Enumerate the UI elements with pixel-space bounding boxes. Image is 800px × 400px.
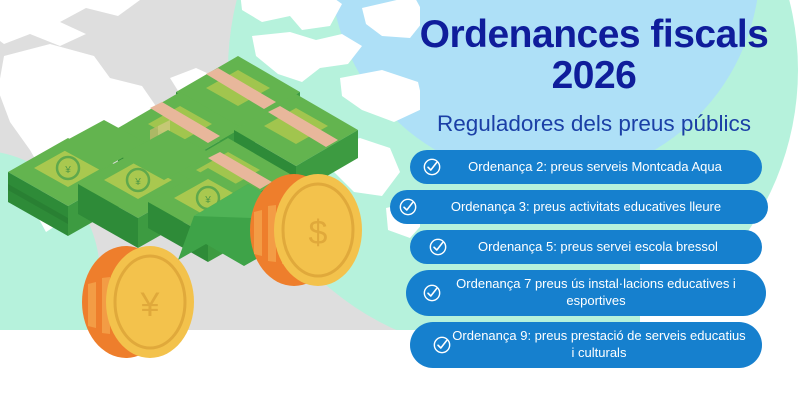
gold-coin-right: $ (250, 174, 362, 286)
list-item-ordenanca-2[interactable]: Ordenança 2: preus serveis Montcada Aqua (410, 150, 762, 184)
svg-text:¥: ¥ (140, 286, 160, 324)
page-title: Ordenances fiscals 2026 (388, 14, 800, 97)
content-column: Ordenances fiscals 2026 Reguladores dels… (388, 0, 800, 400)
check-circle-icon (398, 197, 418, 217)
list-item-ordenanca-7[interactable]: Ordenança 7 preus ús instal·lacions educ… (406, 270, 766, 316)
svg-text:¥: ¥ (204, 195, 211, 206)
svg-text:$: $ (309, 214, 328, 252)
poster-canvas: ¥ ¥ ¥ (0, 0, 800, 400)
page-title-line1: Ordenances fiscals (388, 14, 800, 55)
list-item-label: Ordenança 3: preus activitats educatives… (418, 199, 762, 216)
check-circle-icon (432, 335, 452, 355)
list-item-ordenanca-3[interactable]: Ordenança 3: preus activitats educatives… (390, 190, 768, 224)
page-title-line2: 2026 (388, 55, 800, 96)
ordinance-list: Ordenança 2: preus serveis Montcada Aqua… (388, 150, 800, 374)
svg-text:¥: ¥ (134, 177, 141, 188)
list-item-label: Ordenança 7 preus ús instal·lacions educ… (442, 276, 758, 309)
isometric-money-illustration: ¥ ¥ ¥ (0, 34, 400, 364)
check-circle-icon (422, 283, 442, 303)
list-item-ordenanca-5[interactable]: Ordenança 5: preus servei escola bressol (410, 230, 762, 264)
check-circle-icon (428, 237, 448, 257)
list-item-label: Ordenança 9: preus prestació de serveis … (452, 328, 754, 361)
svg-text:¥: ¥ (64, 165, 71, 176)
page-subtitle: Reguladores dels preus públics (388, 112, 800, 137)
gold-coin-left: ¥ (82, 246, 194, 358)
list-item-label: Ordenança 5: preus servei escola bressol (448, 239, 756, 256)
list-item-ordenanca-9[interactable]: Ordenança 9: preus prestació de serveis … (410, 322, 762, 368)
list-item-label: Ordenança 2: preus serveis Montcada Aqua (442, 159, 756, 176)
check-circle-icon (422, 157, 442, 177)
